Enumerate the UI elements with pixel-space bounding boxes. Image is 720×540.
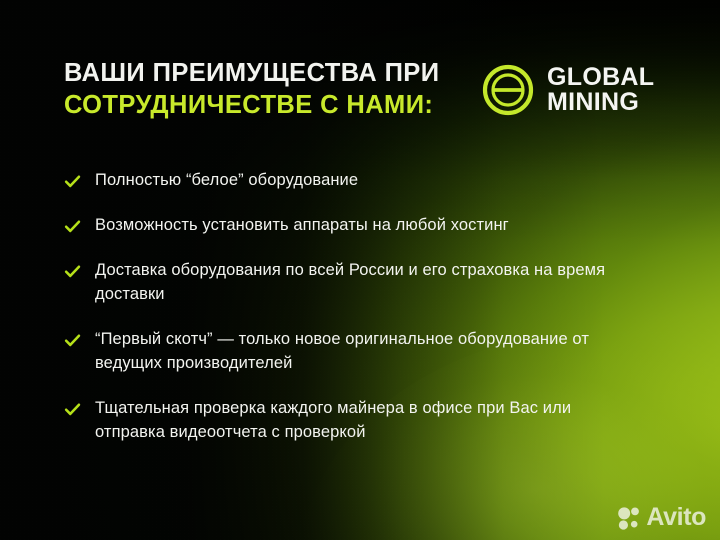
list-item-label: Тщательная проверка каждого майнера в оф… [95, 396, 635, 444]
list-item: Тщательная проверка каждого майнера в оф… [64, 396, 664, 444]
check-icon [64, 332, 81, 349]
page-title: ВАШИ ПРЕИМУЩЕСТВА ПРИ СОТРУДНИЧЕСТВЕ С Н… [64, 57, 484, 121]
page-title-line-2: СОТРУДНИЧЕСТВЕ С НАМИ: [64, 89, 484, 121]
list-item-label: “Первый скотч” — только новое оригинальн… [95, 327, 635, 375]
brand-logo-text: GLOBAL MINING [547, 65, 654, 115]
list-item-label: Возможность установить аппараты на любой… [95, 213, 509, 237]
page-title-line-1: ВАШИ ПРЕИМУЩЕСТВА ПРИ [64, 57, 484, 89]
brand-logo-line-2: MINING [547, 90, 654, 115]
list-item: Полностью “белое” оборудование [64, 168, 664, 192]
promo-banner: ВАШИ ПРЕИМУЩЕСТВА ПРИ СОТРУДНИЧЕСТВЕ С Н… [0, 0, 720, 540]
brand-logo: GLOBAL MINING [482, 64, 654, 116]
benefits-list: Полностью “белое” оборудование Возможнос… [64, 168, 664, 444]
check-icon [64, 173, 81, 190]
check-icon [64, 218, 81, 235]
check-icon [64, 401, 81, 418]
banner-content: ВАШИ ПРЕИМУЩЕСТВА ПРИ СОТРУДНИЧЕСТВЕ С Н… [0, 0, 720, 540]
list-item: Возможность установить аппараты на любой… [64, 213, 664, 237]
list-item-label: Полностью “белое” оборудование [95, 168, 358, 192]
list-item: Доставка оборудования по всей России и е… [64, 258, 664, 306]
list-item: “Первый скотч” — только новое оригинальн… [64, 327, 664, 375]
global-mining-ring-icon [482, 64, 534, 116]
list-item-label: Доставка оборудования по всей России и е… [95, 258, 635, 306]
avito-dots-icon [618, 506, 641, 530]
avito-watermark: Avito [618, 505, 706, 530]
avito-watermark-label: Avito [646, 505, 706, 530]
brand-logo-line-1: GLOBAL [547, 65, 654, 90]
check-icon [64, 263, 81, 280]
